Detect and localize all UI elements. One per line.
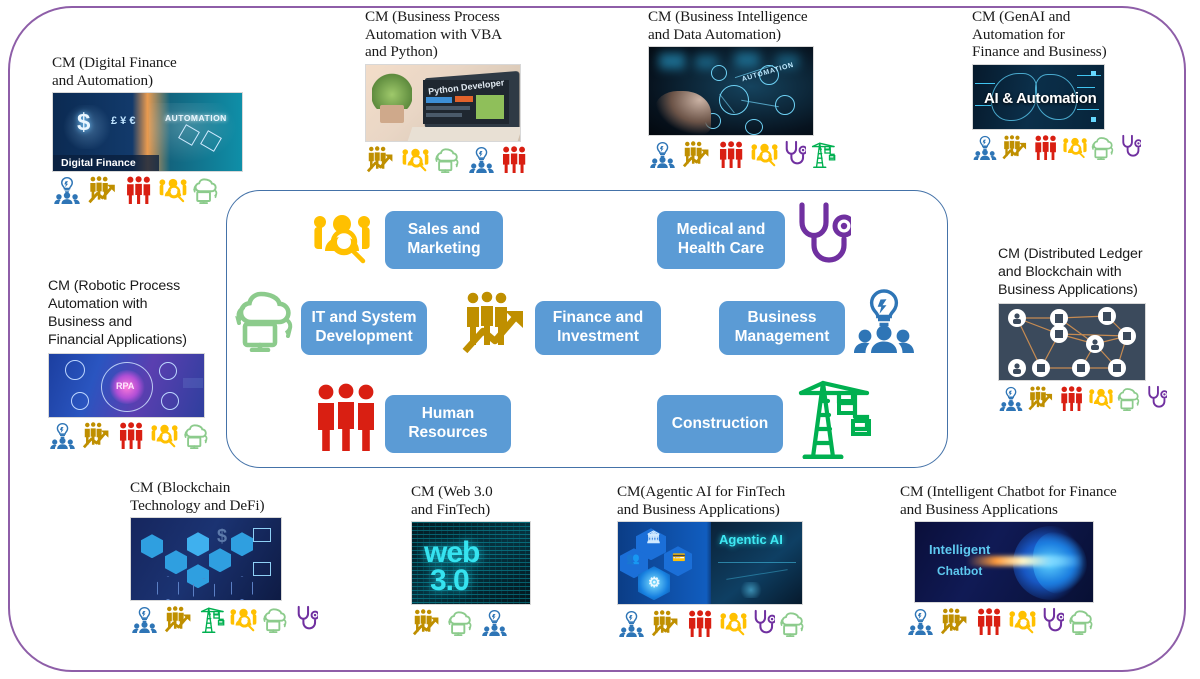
finance-growth-icon (650, 610, 682, 637)
pill-business-management[interactable]: Business Management (719, 301, 845, 355)
stethoscope-icon (295, 605, 318, 633)
module-title: CM (Intelligent Chatbot for Finance and … (900, 483, 1117, 518)
sales-marketing-icon (1008, 608, 1037, 635)
stethoscope-icon (752, 609, 775, 637)
business-management-icon (853, 287, 915, 353)
human-resources-icon (500, 146, 529, 173)
domain-panel: Sales and Marketing Medical and Health C… (226, 190, 948, 468)
module-thumbnail: RPA (48, 353, 205, 418)
module-thumbnail: $ £ ¥ € AUTOMATION Digital Finance (52, 92, 243, 172)
stethoscope-icon (793, 200, 851, 272)
thumb-caption-digital-finance: Digital Finance (61, 157, 136, 169)
pill-human-resources[interactable]: Human Resources (385, 395, 511, 453)
it-cloud-monitor-icon (183, 422, 212, 449)
thumb-caption-chatbot: Chatbot (937, 564, 982, 578)
it-cloud-monitor-icon (1091, 135, 1117, 160)
construction-crane-icon (793, 373, 873, 459)
sales-marketing-icon (1062, 135, 1088, 160)
stethoscope-icon (1120, 134, 1141, 160)
finance-growth-icon (681, 141, 713, 168)
sales-marketing-icon (229, 606, 258, 633)
sales-marketing-icon (401, 146, 430, 173)
module-web-3-0-and-fintech[interactable]: CM (Web 3.0 and FinTech) web 3.0 (411, 483, 531, 636)
business-management-icon (998, 386, 1024, 411)
human-resources-icon (313, 383, 381, 451)
finance-growth-icon (459, 291, 533, 355)
pill-medical-and-health-care[interactable]: Medical and Health Care (657, 211, 785, 269)
human-resources-icon (124, 176, 154, 204)
construction-crane-icon (810, 140, 836, 168)
module-thumbnail: AI & Automation (972, 64, 1105, 130)
module-title: CM(Agentic AI for FinTech and Business A… (617, 483, 808, 518)
thumb-caption-30: 3.0 (430, 564, 469, 598)
business-management-icon (480, 609, 509, 636)
module-title: CM (Business Intelligence and Data Autom… (648, 8, 836, 43)
module-thumbnail: Intelligent Chatbot (914, 521, 1094, 603)
finance-growth-icon (411, 609, 443, 636)
construction-crane-icon (199, 605, 225, 633)
stethoscope-icon (783, 140, 806, 168)
module-title: CM (Business Process Automation with VBA… (365, 8, 529, 61)
module-blockchain-technology-and-defi[interactable]: CM (Blockchain Technology and DeFi) $ (130, 479, 318, 633)
human-resources-icon (117, 422, 146, 449)
finance-growth-icon (1001, 135, 1030, 160)
finance-growth-icon (81, 422, 113, 449)
business-management-icon (52, 176, 82, 204)
module-icon-row (52, 176, 243, 204)
stethoscope-icon (1041, 607, 1064, 635)
sales-marketing-icon (750, 141, 779, 168)
pill-construction[interactable]: Construction (657, 395, 783, 453)
human-resources-icon (1059, 386, 1085, 411)
sales-marketing-icon (1088, 386, 1114, 411)
module-intelligent-chatbot-for-finance[interactable]: CM (Intelligent Chatbot for Finance and … (900, 483, 1117, 635)
module-icon-row (130, 605, 318, 633)
sales-marketing-icon (158, 176, 188, 204)
module-distributed-ledger-and-blockchain[interactable]: CM (Distributed Ledger and Blockchain wi… (998, 246, 1167, 411)
module-agentic-ai-for-fintech[interactable]: CM(Agentic AI for FinTech and Business A… (617, 483, 808, 637)
finance-growth-icon (1027, 386, 1056, 411)
it-cloud-monitor-icon (192, 176, 222, 204)
module-icon-row (617, 609, 808, 637)
finance-growth-icon (939, 608, 971, 635)
pill-sales-and-marketing[interactable]: Sales and Marketing (385, 211, 503, 269)
module-title: CM (Digital Finance and Automation) (52, 54, 243, 89)
human-resources-icon (975, 608, 1004, 635)
module-icon-row (48, 422, 212, 449)
thumb-caption-agentic-ai: Agentic AI (719, 532, 783, 547)
module-thumbnail (998, 303, 1146, 381)
finance-growth-icon (365, 146, 397, 173)
finance-growth-icon (86, 176, 120, 204)
sales-marketing-icon (150, 422, 179, 449)
module-icon-row (972, 134, 1141, 160)
module-thumbnail: 🏛 👥 💳 ⚙ Agentic AI (617, 521, 803, 605)
module-icon-row (648, 140, 836, 168)
thumb-caption-rpa: RPA (116, 381, 134, 391)
human-resources-icon (686, 610, 715, 637)
module-title: CM (GenAI and Automation for Finance and… (972, 8, 1141, 61)
module-title: CM (Distributed Ledger and Blockchain wi… (998, 246, 1167, 300)
sales-marketing-icon (719, 610, 748, 637)
it-cloud-monitor-icon (447, 609, 476, 636)
business-management-icon (617, 610, 646, 637)
pill-it-and-system-development[interactable]: IT and System Development (301, 301, 427, 355)
sales-marketing-icon (311, 209, 373, 267)
module-icon-row (906, 607, 1117, 635)
business-management-icon (467, 146, 496, 173)
module-thumbnail: AUTOMATION (648, 46, 814, 136)
module-thumbnail: web 3.0 (411, 521, 531, 605)
module-robotic-process-automation[interactable]: CM (Robotic Process Automation with Busi… (48, 278, 212, 449)
finance-growth-icon (163, 606, 195, 633)
thumb-caption-ai-automation: AI & Automation (984, 90, 1096, 107)
business-management-icon (906, 608, 935, 635)
module-title: CM (Robotic Process Automation with Busi… (48, 278, 212, 350)
business-management-icon (972, 135, 998, 160)
stethoscope-icon (1146, 385, 1167, 411)
thumb-caption-automation: AUTOMATION (165, 113, 227, 123)
it-cloud-monitor-icon (779, 610, 808, 637)
human-resources-icon (717, 141, 746, 168)
it-cloud-monitor-icon (262, 606, 291, 633)
module-icon-row (365, 146, 529, 173)
module-thumbnail: $ (130, 517, 282, 601)
it-cloud-monitor-icon (235, 286, 301, 352)
module-title: CM (Blockchain Technology and DeFi) (130, 479, 318, 514)
module-title: CM (Web 3.0 and FinTech) (411, 483, 531, 518)
pill-finance-and-investment[interactable]: Finance and Investment (535, 301, 661, 355)
human-resources-icon (1033, 135, 1059, 160)
module-business-intelligence-and-data-automation[interactable]: CM (Business Intelligence and Data Autom… (648, 8, 836, 168)
module-genai-and-automation-for-finance-and-business[interactable]: CM (GenAI and Automation for Finance and… (972, 8, 1141, 160)
module-digital-finance-and-automation[interactable]: CM (Digital Finance and Automation) $ £ … (52, 54, 243, 204)
it-cloud-monitor-icon (1117, 386, 1143, 411)
module-business-process-automation-vba-python[interactable]: CM (Business Process Automation with VBA… (365, 8, 529, 173)
business-management-icon (648, 141, 677, 168)
module-thumbnail: Python Developer (365, 64, 521, 142)
module-icon-row (411, 609, 531, 636)
module-icon-row (998, 385, 1167, 411)
thumb-caption-intelligent: Intelligent (929, 542, 990, 557)
business-management-icon (130, 606, 159, 633)
it-cloud-monitor-icon (1068, 608, 1097, 635)
it-cloud-monitor-icon (434, 146, 463, 173)
business-management-icon (48, 422, 77, 449)
